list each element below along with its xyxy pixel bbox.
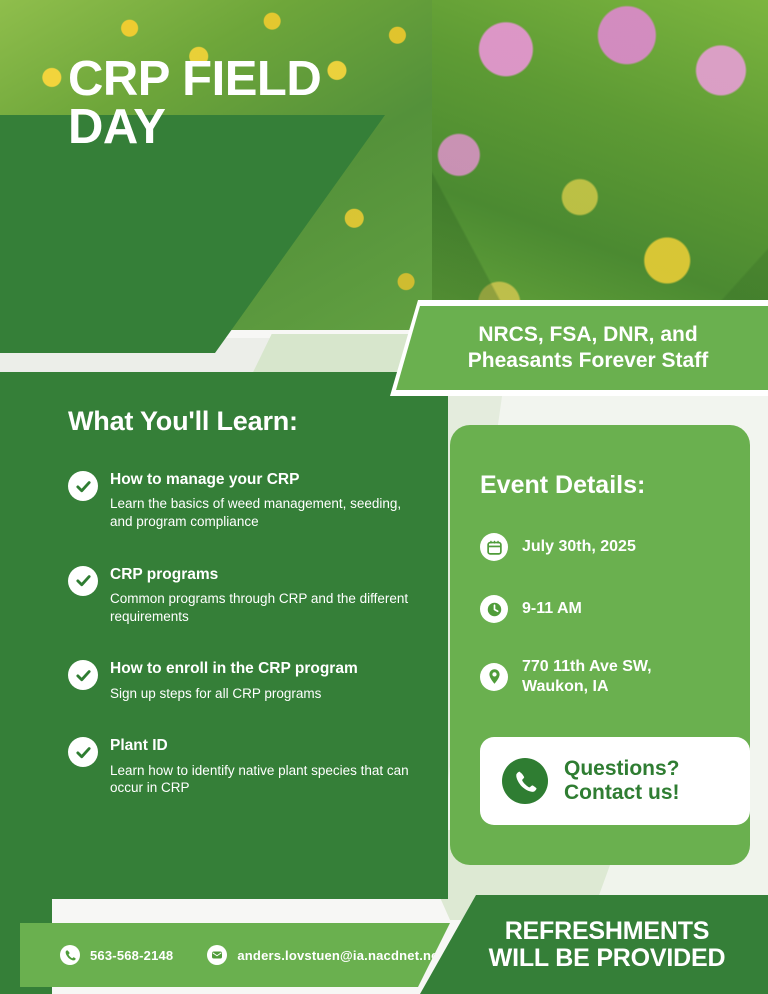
event-location-value: 770 11th Ave SW, Waukon, IA xyxy=(522,657,652,696)
page-title-line1: CRP FIELD xyxy=(68,55,398,103)
staff-ribbon: NRCS, FSA, DNR, and Pheasants Forever St… xyxy=(390,300,768,396)
event-address-line2: Waukon, IA xyxy=(522,678,609,695)
location-pin-icon xyxy=(480,663,508,691)
page-title: CRP FIELD DAY xyxy=(68,55,398,151)
check-circle-icon xyxy=(68,471,98,501)
list-item: CRP programs Common programs through CRP… xyxy=(68,565,418,626)
list-item: How to manage your CRP Learn the basics … xyxy=(68,470,418,531)
learn-heading: What You'll Learn: xyxy=(68,406,298,437)
calendar-icon xyxy=(480,533,508,561)
footer-phone[interactable]: 563-568-2148 xyxy=(60,945,173,965)
list-item: Plant ID Learn how to identify native pl… xyxy=(68,736,418,797)
questions-line2: Contact us! xyxy=(564,781,680,804)
list-item-title: CRP programs xyxy=(110,566,218,583)
staff-ribbon-text: NRCS, FSA, DNR, and Pheasants Forever St… xyxy=(456,322,708,373)
list-item-title: How to manage your CRP xyxy=(110,471,299,488)
footer-email[interactable]: anders.lovstuen@ia.nacdnet.net xyxy=(207,945,443,965)
event-time-value: 9-11 AM xyxy=(522,599,582,619)
learn-list: How to manage your CRP Learn the basics … xyxy=(68,470,418,821)
check-circle-icon xyxy=(68,737,98,767)
list-item-desc: Common programs through CRP and the diff… xyxy=(110,590,418,625)
refreshments-line2: WILL BE PROVIDED xyxy=(489,944,726,972)
questions-card-text: Questions? Contact us! xyxy=(564,757,680,805)
staff-ribbon-body: NRCS, FSA, DNR, and Pheasants Forever St… xyxy=(396,306,768,390)
event-date-value: July 30th, 2025 xyxy=(522,537,636,557)
refreshments-banner-text: REFRESHMENTS WILL BE PROVIDED xyxy=(463,918,726,972)
phone-icon xyxy=(60,945,80,965)
email-icon xyxy=(207,945,227,965)
list-item-title: Plant ID xyxy=(110,737,168,754)
event-detail-time: 9-11 AM xyxy=(480,595,730,623)
check-circle-icon xyxy=(68,566,98,596)
refreshments-banner: REFRESHMENTS WILL BE PROVIDED xyxy=(420,895,768,994)
footer-email-value: anders.lovstuen@ia.nacdnet.net xyxy=(237,948,443,963)
crp-field-day-flyer: CRP FIELD DAY NRCS, FSA, DNR, and Pheasa… xyxy=(0,0,768,994)
questions-line1: Questions? xyxy=(564,757,680,780)
event-details-rows: July 30th, 2025 9-11 AM xyxy=(480,533,730,730)
check-circle-icon xyxy=(68,660,98,690)
list-item-desc: Sign up steps for all CRP programs xyxy=(110,685,418,703)
event-detail-location: 770 11th Ave SW, Waukon, IA xyxy=(480,657,730,696)
refreshments-line1: REFRESHMENTS xyxy=(505,917,710,945)
list-item-desc: Learn how to identify native plant speci… xyxy=(110,762,418,797)
staff-ribbon-line1: NRCS, FSA, DNR, and xyxy=(468,322,708,348)
event-detail-date: July 30th, 2025 xyxy=(480,533,730,561)
staff-ribbon-line2: Pheasants Forever Staff xyxy=(468,348,708,374)
page-title-line2: DAY xyxy=(68,103,398,151)
list-item: How to enroll in the CRP program Sign up… xyxy=(68,659,418,702)
footer-contact-bar: 563-568-2148 anders.lovstuen@ia.nacdnet.… xyxy=(20,923,450,987)
event-address-line1: 770 11th Ave SW, xyxy=(522,658,652,675)
questions-contact-card[interactable]: Questions? Contact us! xyxy=(480,737,750,825)
list-item-title: How to enroll in the CRP program xyxy=(110,660,358,677)
phone-icon xyxy=(502,758,548,804)
list-item-desc: Learn the basics of weed management, see… xyxy=(110,495,418,530)
footer-phone-value: 563-568-2148 xyxy=(90,948,173,963)
clock-icon xyxy=(480,595,508,623)
event-details-heading: Event Details: xyxy=(480,471,645,500)
